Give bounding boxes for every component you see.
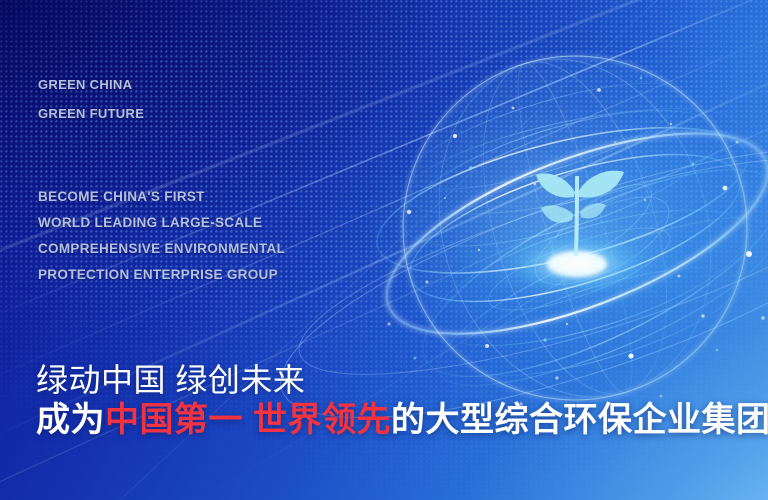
hero-banner: GREEN CHINA GREEN FUTURE BECOME CHINA'S … xyxy=(0,0,768,500)
english-slogan-top: GREEN CHINA GREEN FUTURE xyxy=(38,70,144,128)
english-top-line-1: GREEN CHINA xyxy=(38,70,144,99)
english-slogan-main: BECOME CHINA'S FIRST WORLD LEADING LARGE… xyxy=(38,184,285,288)
headline-line-2-suffix: 的大型综合环保企业集团 xyxy=(391,401,768,439)
headline-highlight: 中国第一 世界领先 xyxy=(105,401,391,439)
headline-line-1: 绿动中国 绿创未来 xyxy=(36,362,768,399)
english-top-line-2: GREEN FUTURE xyxy=(38,99,144,128)
chinese-headline: 绿动中国 绿创未来 成为中国第一 世界领先的大型综合环保企业集团 xyxy=(36,362,768,439)
english-main-line-3: COMPREHENSIVE ENVIRONMENTAL xyxy=(38,236,285,262)
headline-line-2: 成为中国第一 世界领先的大型综合环保企业集团 xyxy=(36,402,768,439)
headline-line-2-prefix: 成为 xyxy=(36,401,105,439)
english-main-line-2: WORLD LEADING LARGE-SCALE xyxy=(38,210,285,236)
english-main-line-4: PROTECTION ENTERPRISE GROUP xyxy=(38,262,285,288)
english-main-line-1: BECOME CHINA'S FIRST xyxy=(38,184,285,210)
